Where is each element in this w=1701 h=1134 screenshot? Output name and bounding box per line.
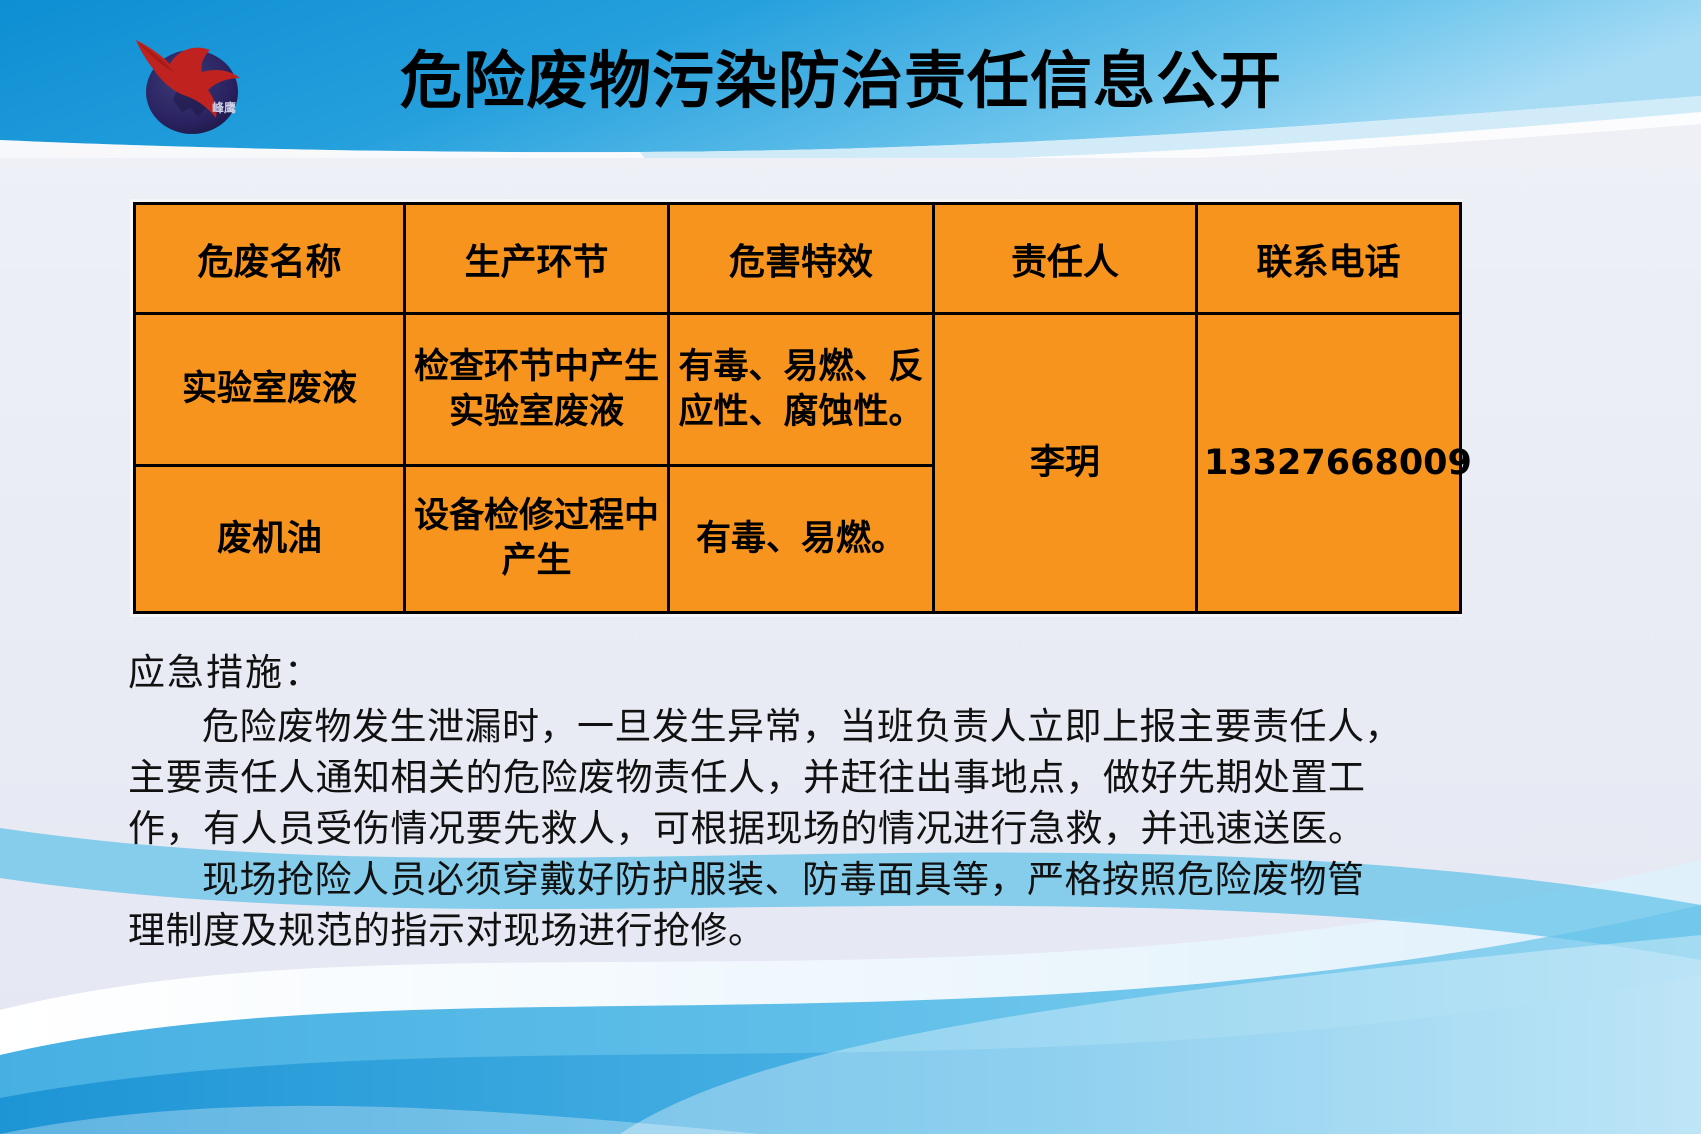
column-header-responsible-person: 责任人 xyxy=(934,204,1197,314)
paragraph-line: 危险废物发生泄漏时，一旦发生异常，当班负责人立即上报主要责任人， xyxy=(202,705,1402,748)
header-banner: 峰鹰 危险废物污染防治责任信息公开 xyxy=(0,0,1701,158)
cell-waste-name: 废机油 xyxy=(135,466,405,613)
paragraph-line: 理制度及规范的指示对现场进行抢修。 xyxy=(128,909,766,952)
emergency-paragraph: 理制度及规范的指示对现场进行抢修。 xyxy=(128,905,1478,956)
cell-hazard-property: 有毒、易燃。 xyxy=(669,466,934,613)
emergency-measures-section: 应急措施： 危险废物发生泄漏时，一旦发生异常，当班负责人立即上报主要责任人， 主… xyxy=(128,645,1478,956)
column-header-production-stage: 生产环节 xyxy=(405,204,669,314)
paragraph-line: 作，有人员受伤情况要先救人，可根据现场的情况进行急救，并迅速送医。 xyxy=(128,807,1366,850)
cell-responsible-person: 李玥 xyxy=(934,314,1197,613)
column-header-contact-phone: 联系电话 xyxy=(1197,204,1461,314)
emergency-paragraph: 作，有人员受伤情况要先救人，可根据现场的情况进行急救，并迅速送医。 xyxy=(128,803,1478,854)
emergency-paragraph: 现场抢险人员必须穿戴好防护服装、防毒面具等，严格按照危险废物管 xyxy=(128,854,1478,905)
column-header-waste-name: 危废名称 xyxy=(135,204,405,314)
cell-production-stage: 设备检修过程中产生 xyxy=(405,466,669,613)
emergency-measures-title: 应急措施： xyxy=(128,645,1478,701)
eagle-logo: 峰鹰 xyxy=(112,20,282,140)
waste-table-container: 危废名称 生产环节 危害特效 责任人 联系电话 实验室废液 检查环节中产生实验室… xyxy=(130,199,1462,617)
table-header-row: 危废名称 生产环节 危害特效 责任人 联系电话 xyxy=(135,204,1461,314)
emergency-paragraph: 主要责任人通知相关的危险废物责任人，并赶往出事地点，做好先期处置工 xyxy=(128,752,1478,803)
cell-production-stage: 检查环节中产生实验室废液 xyxy=(405,314,669,466)
svg-text:峰鹰: 峰鹰 xyxy=(212,100,236,115)
emergency-paragraph: 危险废物发生泄漏时，一旦发生异常，当班负责人立即上报主要责任人， xyxy=(128,701,1478,752)
paragraph-line: 现场抢险人员必须穿戴好防护服装、防毒面具等，严格按照危险废物管 xyxy=(202,858,1365,901)
cell-waste-name: 实验室废液 xyxy=(135,314,405,466)
hazardous-waste-table: 危废名称 生产环节 危害特效 责任人 联系电话 实验室废液 检查环节中产生实验室… xyxy=(133,202,1462,614)
column-header-hazard-property: 危害特效 xyxy=(669,204,934,314)
page-title: 危险废物污染防治责任信息公开 xyxy=(400,50,1282,112)
slide-page: 峰鹰 危险废物污染防治责任信息公开 危废名称 生产环节 危害特效 责任人 联系电… xyxy=(0,0,1701,1134)
cell-hazard-property: 有毒、易燃、反应性、腐蚀性。 xyxy=(669,314,934,466)
table-row: 实验室废液 检查环节中产生实验室废液 有毒、易燃、反应性、腐蚀性。 李玥 133… xyxy=(135,314,1461,466)
paragraph-line: 主要责任人通知相关的危险废物责任人，并赶往出事地点，做好先期处置工 xyxy=(128,756,1366,799)
cell-contact-phone: 13327668009 xyxy=(1197,314,1461,613)
